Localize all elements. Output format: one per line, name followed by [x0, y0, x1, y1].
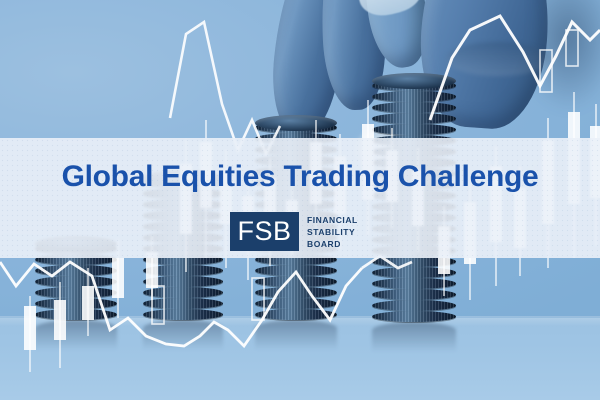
fsb-logo[interactable]: FSB FINANCIAL STABILITY BOARD: [230, 212, 358, 251]
fsb-logo-mark-text: FSB: [237, 218, 291, 245]
promo-banner-image: Global Equities Trading Challenge FSB FI…: [0, 0, 600, 400]
fsb-wordmark-line-3: BOARD: [307, 238, 358, 250]
page-title: Global Equities Trading Challenge: [0, 160, 600, 194]
fsb-logo-wordmark: FINANCIAL STABILITY BOARD: [307, 214, 358, 250]
fsb-wordmark-line-1: FINANCIAL: [307, 214, 358, 226]
fsb-wordmark-line-2: STABILITY: [307, 226, 358, 238]
fsb-logo-mark: FSB: [230, 212, 299, 251]
